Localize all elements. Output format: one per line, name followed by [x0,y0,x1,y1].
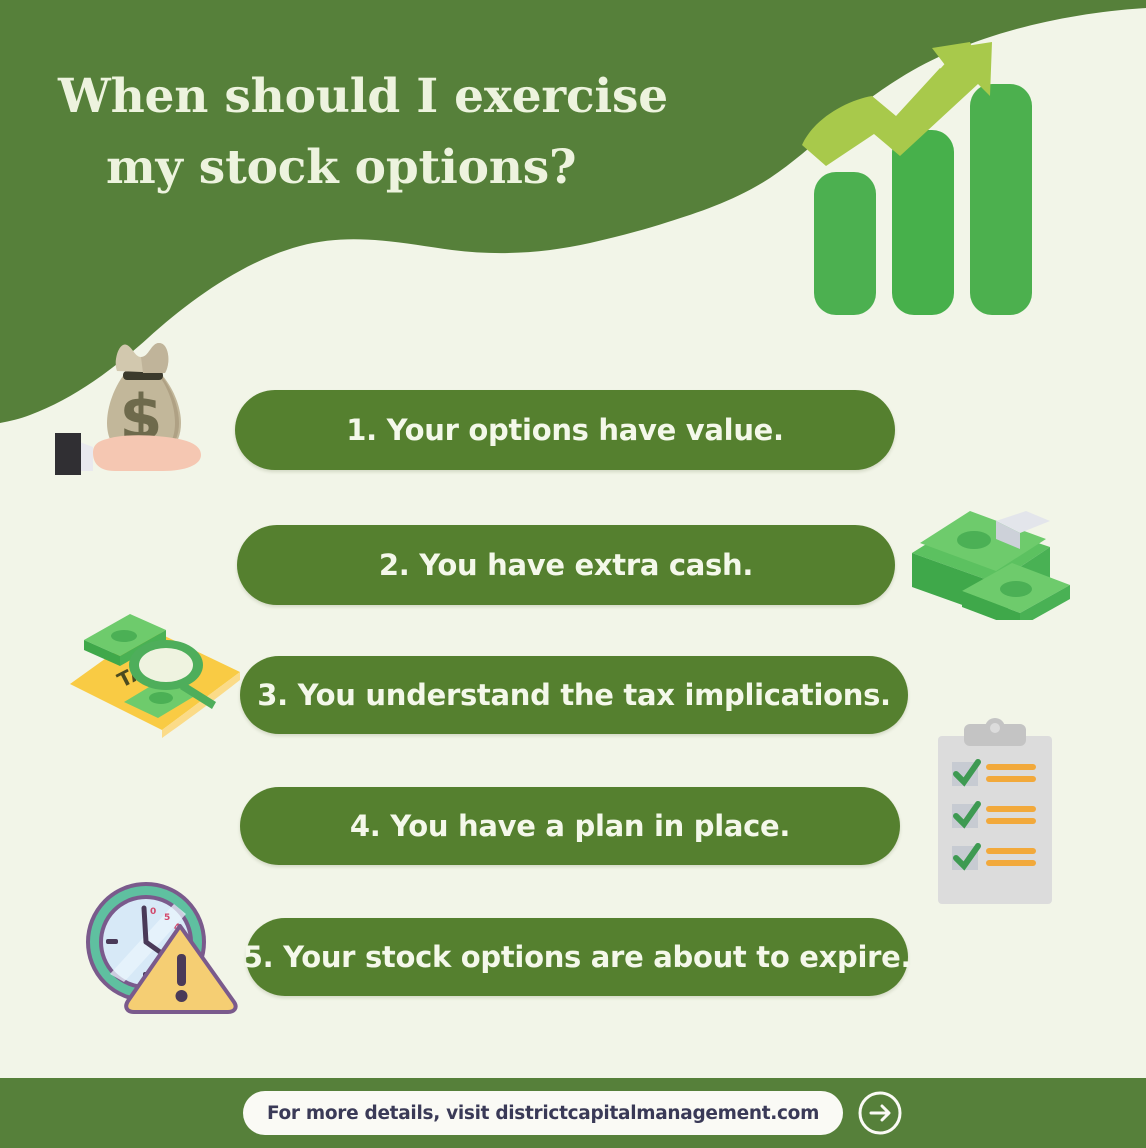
list-item-label-1: 1. Your options have value. [346,413,784,447]
svg-text:5: 5 [164,913,170,923]
arrow-right-circle-icon[interactable] [858,1091,902,1135]
list-item-pill-3[interactable]: 3. You understand the tax implications. [240,656,908,734]
clock-warning-icon: 0 5 4 3 2 [78,880,258,1015]
list-item-pill-5[interactable]: 5. Your stock options are about to expir… [246,918,908,996]
tax-document-magnifier-icon: TAX [62,610,247,740]
footer-bar: For more details, visit districtcapitalm… [0,1078,1146,1148]
list-item-pill-1[interactable]: 1. Your options have value. [235,390,895,470]
bar-chart-growth-icon [800,40,1060,315]
list-item-label-5: 5. Your stock options are about to expir… [243,940,911,974]
list-item-pill-4[interactable]: 4. You have a plan in place. [240,787,900,865]
infographic-canvas: When should I exercise my stock options?… [0,0,1146,1148]
footer-cta-text: For more details, visit districtcapitalm… [267,1103,819,1124]
money-bag-in-hand-icon: $ [55,335,230,480]
page-title: When should I exercise my stock options? [58,62,678,203]
cash-stack-icon [900,495,1075,620]
list-item-pill-2[interactable]: 2. You have extra cash. [237,525,895,605]
svg-text:0: 0 [150,907,156,917]
list-item-label-3: 3. You understand the tax implications. [257,678,891,712]
page-title-line-1: When should I exercise [58,69,668,124]
footer-cta-pill[interactable]: For more details, visit districtcapitalm… [243,1091,843,1135]
page-title-line-2: my stock options? [106,133,678,204]
list-item-label-2: 2. You have extra cash. [379,548,753,582]
list-item-label-4: 4. You have a plan in place. [350,809,790,843]
clipboard-checklist-icon [930,718,1060,913]
